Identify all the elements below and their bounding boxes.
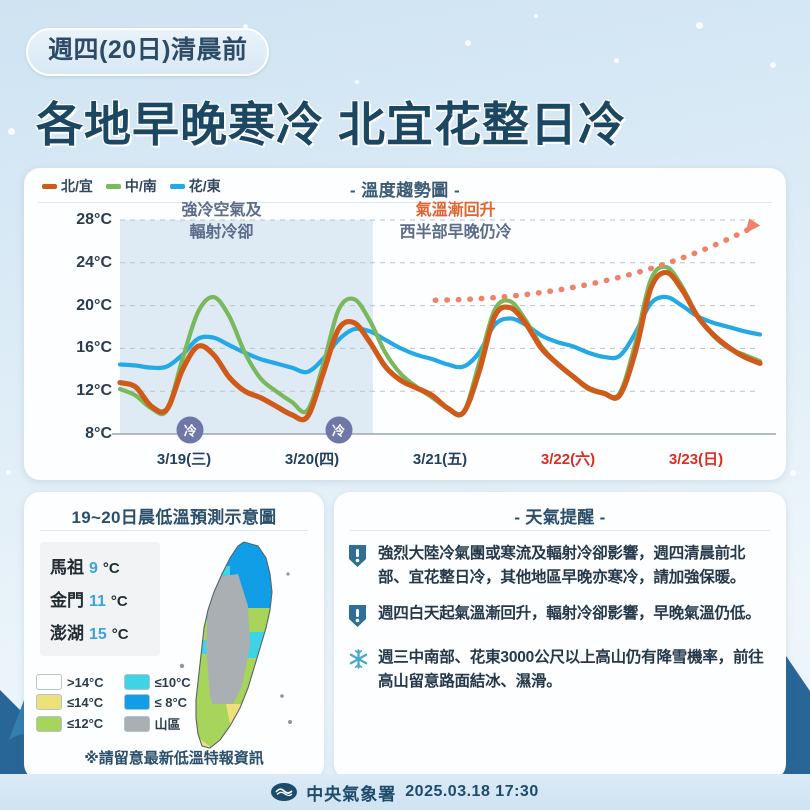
map-legend-row: ≤14°C≤ 8°C bbox=[36, 694, 211, 710]
island-name: 金門 bbox=[50, 586, 84, 611]
chart-plot-area: 8°C12°C16°C20°C24°C28°C 3/19(三)3/20(四)3/… bbox=[24, 204, 786, 480]
map-legend-label: ≤12°C bbox=[67, 716, 103, 731]
page-title: 各地早晚寒冷 北宜花整日冷 bbox=[36, 86, 626, 155]
island-row-澎湖: 澎湖15°C bbox=[40, 615, 160, 648]
min-temperature-map-card: 19~20日晨低溫預測示意圖 馬祖9°C金門11°C澎湖15°C bbox=[24, 492, 324, 780]
cwa-logo-icon bbox=[271, 782, 297, 802]
cold-badge-1: 冷 bbox=[325, 417, 352, 444]
map-legend-swatch bbox=[124, 716, 150, 732]
tips-divider bbox=[350, 530, 770, 531]
map-legend-label: 山區 bbox=[155, 714, 181, 733]
map-legend-swatch bbox=[124, 674, 150, 690]
y-tick-20: 20°C bbox=[76, 297, 112, 315]
island-row-馬祖: 馬祖9°C bbox=[40, 549, 160, 582]
annotation-left: 強冷空氣及輻射冷卻 bbox=[181, 200, 261, 243]
map-note: ※請留意最新低溫特報資訊 bbox=[24, 747, 324, 768]
tip-item-0: 強烈大陸冷氣團或寒流及輻射冷卻影響，週四清晨前北部、宜花整日冷，其他地區早晚亦寒… bbox=[348, 542, 772, 589]
exclamation-icon bbox=[348, 602, 369, 633]
island-temp: 11 bbox=[89, 593, 106, 611]
map-legend-item: ≤14°C bbox=[36, 694, 124, 710]
annotation-line2: 西半部早晚仍冷 bbox=[400, 222, 512, 244]
map-legend-item: ≤12°C bbox=[36, 716, 124, 732]
x-tick-1: 3/20(四) bbox=[285, 448, 339, 469]
island-temp: 15 bbox=[89, 626, 107, 644]
x-tick-2: 3/21(五) bbox=[413, 448, 467, 469]
island-unit: °C bbox=[111, 593, 128, 610]
map-legend-label: ≤14°C bbox=[67, 695, 103, 710]
map-legend-label: ≤ 8°C bbox=[155, 695, 188, 710]
tip-text: 週四白天起氣溫漸回升，輻射冷卻影響，早晚氣溫仍低。 bbox=[378, 602, 761, 633]
x-tick-3: 3/22(六) bbox=[541, 448, 595, 469]
map-legend-item: ≤ 8°C bbox=[124, 694, 212, 710]
footer-datetime: 2025.03.18 17:30 bbox=[405, 783, 538, 801]
y-tick-8: 8°C bbox=[85, 425, 112, 443]
island-temperature-list: 馬祖9°C金門11°C澎湖15°C bbox=[40, 542, 160, 656]
map-legend-item: 山區 bbox=[124, 714, 212, 733]
y-tick-24: 24°C bbox=[76, 254, 112, 272]
map-divider bbox=[40, 530, 308, 531]
x-tick-4: 3/23(日) bbox=[669, 448, 723, 469]
map-legend: >14°C≤10°C≤14°C≤ 8°C≤12°C山區 bbox=[36, 674, 211, 737]
x-tick-0: 3/19(三) bbox=[157, 448, 211, 469]
annotation-line2: 輻射冷卻 bbox=[181, 222, 261, 244]
y-tick-12: 12°C bbox=[76, 382, 112, 400]
annotation-line1: 氣溫漸回升 bbox=[400, 200, 512, 222]
date-badge: 週四(20日)清晨前 bbox=[26, 28, 269, 76]
header: 週四(20日)清晨前 各地早晚寒冷 北宜花整日冷 bbox=[0, 0, 810, 166]
map-legend-label: >14°C bbox=[67, 675, 104, 690]
tip-text: 週三中南部、花東3000公尺以上高山仍有降雪機率，前往高山留意路面結冰、濕滑。 bbox=[378, 646, 772, 693]
tip-text: 強烈大陸冷氣團或寒流及輻射冷卻影響，週四清晨前北部、宜花整日冷，其他地區早晚亦寒… bbox=[378, 542, 772, 589]
weather-tips-card: - 天氣提醒 - 強烈大陸冷氣團或寒流及輻射冷卻影響，週四清晨前北部、宜花整日冷… bbox=[334, 492, 786, 780]
agency-name: 中央氣象署 bbox=[306, 780, 396, 805]
map-legend-row: >14°C≤10°C bbox=[36, 674, 211, 690]
map-legend-swatch bbox=[36, 674, 62, 690]
snowflake-icon bbox=[348, 646, 369, 693]
map-legend-swatch bbox=[124, 694, 150, 710]
y-axis-labels: 8°C12°C16°C20°C24°C28°C bbox=[34, 204, 112, 480]
map-legend-swatch bbox=[36, 716, 62, 732]
island-unit: °C bbox=[103, 560, 120, 577]
annotation-right: 氣溫漸回升西半部早晚仍冷 bbox=[400, 200, 512, 243]
annotation-line1: 強冷空氣及 bbox=[181, 200, 261, 222]
map-legend-swatch bbox=[36, 694, 62, 710]
temperature-trend-card: 北/宜 中/南 花/東 - 溫度趨勢圖 - 8°C12°C16°C20°C24°… bbox=[24, 168, 786, 480]
map-legend-row: ≤12°C山區 bbox=[36, 714, 211, 733]
map-legend-item: ≤10°C bbox=[124, 674, 212, 690]
tips-title: - 天氣提醒 - bbox=[334, 503, 786, 528]
tip-item-1: 週四白天起氣溫漸回升，輻射冷卻影響，早晚氣溫仍低。 bbox=[348, 602, 772, 633]
tips-list: 強烈大陸冷氣團或寒流及輻射冷卻影響，週四清晨前北部、宜花整日冷，其他地區早晚亦寒… bbox=[348, 542, 772, 706]
island-temp: 9 bbox=[89, 560, 98, 578]
map-title: 19~20日晨低溫預測示意圖 bbox=[24, 503, 324, 528]
island-unit: °C bbox=[112, 626, 129, 643]
trend-arrow-head bbox=[745, 218, 760, 233]
cold-badge-0: 冷 bbox=[177, 417, 204, 444]
footer: 中央氣象署 2025.03.18 17:30 bbox=[0, 774, 810, 810]
y-tick-16: 16°C bbox=[76, 339, 112, 357]
island-row-金門: 金門11°C bbox=[40, 582, 160, 615]
tip-item-2: 週三中南部、花東3000公尺以上高山仍有降雪機率，前往高山留意路面結冰、濕滑。 bbox=[348, 646, 772, 693]
chart-svg bbox=[24, 204, 786, 480]
island-name: 馬祖 bbox=[50, 553, 84, 578]
y-tick-28: 28°C bbox=[76, 211, 112, 229]
island-name: 澎湖 bbox=[50, 619, 84, 644]
exclamation-icon bbox=[348, 542, 369, 589]
map-legend-label: ≤10°C bbox=[155, 675, 191, 690]
chart-title: - 溫度趨勢圖 - bbox=[24, 176, 786, 201]
map-legend-item: >14°C bbox=[36, 674, 124, 690]
